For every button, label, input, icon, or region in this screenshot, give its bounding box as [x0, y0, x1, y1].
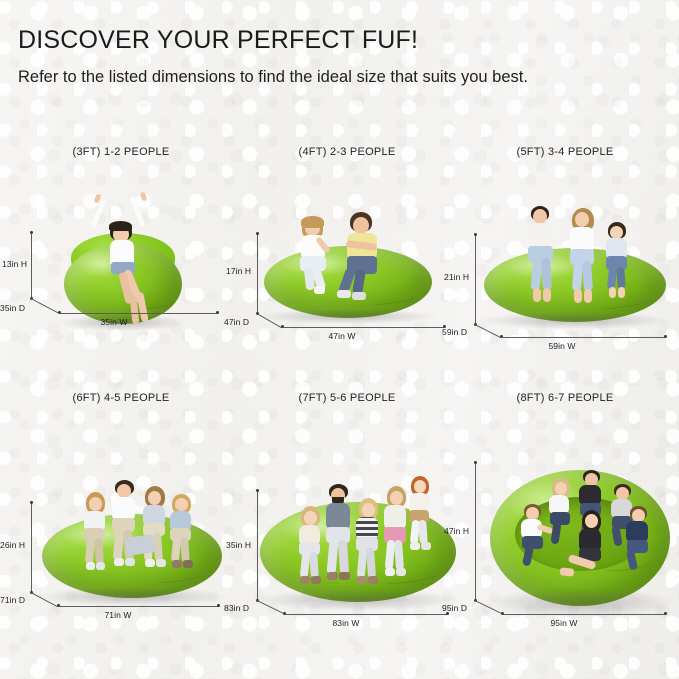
- size-cell-5ft[interactable]: (5FT) 3-4 PEOPLE: [452, 146, 678, 391]
- page-subtitle: Refer to the listed dimensions to find t…: [18, 66, 578, 89]
- size-cell-3ft[interactable]: (3FT) 1-2 PEOPLE 13: [8, 146, 234, 391]
- size-cell-6ft[interactable]: (6FT) 4-5 PEOPLE: [8, 392, 234, 637]
- width-label-8ft: 95in W: [550, 618, 577, 628]
- size-cell-7ft[interactable]: (7FT) 5-6 PEOPLE: [234, 392, 460, 637]
- depth-label-4ft: 47in D: [224, 317, 249, 327]
- width-label-7ft: 83in W: [332, 618, 359, 628]
- size-illustration-8ft: 47in H 95in D 95in W: [452, 414, 678, 637]
- width-label-4ft: 47in W: [328, 331, 355, 341]
- depth-label-6ft: 71in D: [0, 595, 25, 605]
- depth-line-3ft: [31, 298, 59, 313]
- depth-label-8ft: 95in D: [442, 603, 467, 613]
- person-figure: [166, 494, 206, 586]
- header: DISCOVER YOUR PERFECT FUF! Refer to the …: [18, 28, 638, 89]
- size-illustration-4ft: 17in H 47in D 47in W: [234, 168, 460, 391]
- size-title-8ft: (8FT) 6-7 PEOPLE: [452, 392, 678, 404]
- width-line-4ft: [283, 327, 445, 328]
- height-label-3ft: 13in H: [2, 259, 27, 269]
- height-line-6ft: [31, 502, 32, 592]
- person-figure: [86, 196, 182, 316]
- size-title-5ft: (5FT) 3-4 PEOPLE: [452, 146, 678, 158]
- depth-label-5ft: 59in D: [442, 327, 467, 337]
- height-label-8ft: 47in H: [444, 526, 469, 536]
- size-illustration-6ft: 26in H 71in D 71in W: [8, 414, 234, 637]
- size-illustration-3ft: 13in H 35in D 35in W: [8, 168, 234, 391]
- person-figure: [624, 506, 662, 582]
- height-line-7ft: [257, 490, 258, 600]
- height-label-4ft: 17in H: [226, 266, 251, 276]
- height-label-7ft: 35in H: [226, 540, 251, 550]
- width-label-6ft: 71in W: [104, 610, 131, 620]
- width-line-8ft: [503, 614, 666, 615]
- person-figure: [338, 212, 404, 318]
- page-title: DISCOVER YOUR PERFECT FUF!: [18, 28, 638, 53]
- width-line-7ft: [285, 614, 448, 615]
- height-line-5ft: [475, 234, 476, 324]
- width-line-3ft: [60, 313, 218, 314]
- size-title-6ft: (6FT) 4-5 PEOPLE: [8, 392, 234, 404]
- size-cell-8ft[interactable]: (8FT) 6-7 PEOPLE: [452, 392, 678, 637]
- height-line-8ft: [475, 462, 476, 600]
- size-cell-4ft[interactable]: (4FT) 2-3 PEOPLE: [234, 146, 460, 391]
- width-label-3ft: 35in W: [100, 317, 127, 327]
- width-line-6ft: [59, 606, 219, 607]
- size-title-7ft: (7FT) 5-6 PEOPLE: [234, 392, 460, 404]
- height-label-6ft: 26in H: [0, 540, 25, 550]
- height-line-3ft: [31, 232, 32, 298]
- size-title-4ft: (4FT) 2-3 PEOPLE: [234, 146, 460, 158]
- person-figure: [406, 476, 444, 570]
- depth-label-3ft: 35in D: [0, 303, 25, 313]
- height-line-4ft: [257, 233, 258, 313]
- height-label-5ft: 21in H: [444, 272, 469, 282]
- depth-line-5ft: [475, 324, 501, 338]
- person-figure: [602, 222, 646, 314]
- person-figure: [574, 510, 618, 596]
- depth-label-7ft: 83in D: [224, 603, 249, 613]
- size-illustration-5ft: 21in H 59in D 59in W: [452, 168, 678, 391]
- width-line-5ft: [502, 337, 666, 338]
- size-illustration-7ft: 35in H 83in D 83in W: [234, 414, 460, 637]
- size-title-3ft: (3FT) 1-2 PEOPLE: [8, 146, 234, 158]
- width-label-5ft: 59in W: [548, 341, 575, 351]
